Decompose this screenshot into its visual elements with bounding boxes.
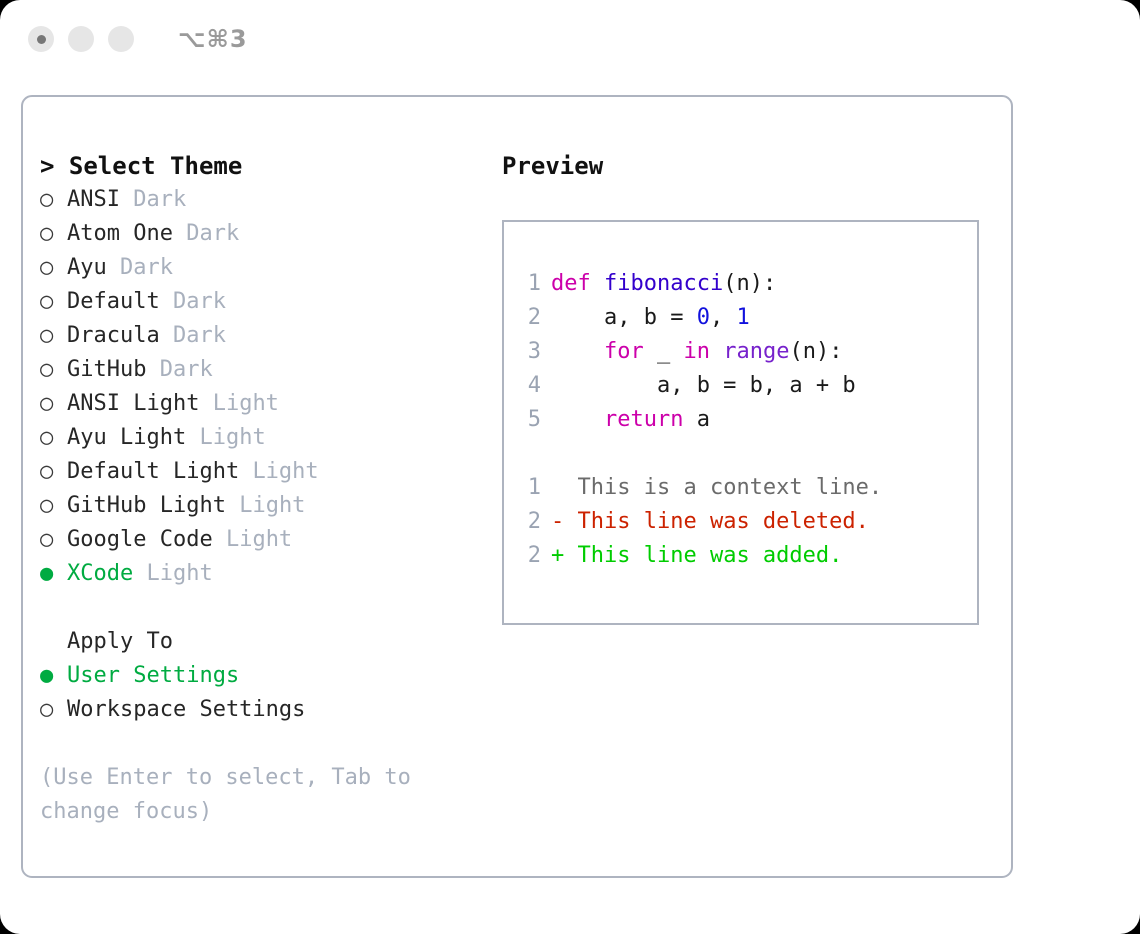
theme-option-list: ○ANSI Dark○Atom One Dark○Ayu Dark○Defaul… (40, 183, 480, 591)
theme-option-dracula[interactable]: ○Dracula Dark (40, 319, 480, 353)
theme-option-variant: Light (252, 459, 318, 484)
diff-text: This line was deleted. (578, 509, 869, 534)
theme-option-ayu-light[interactable]: ○Ayu Light Light (40, 421, 480, 455)
traffic-light-active[interactable] (28, 26, 54, 52)
theme-option-variant: Dark (120, 255, 173, 280)
diff-text: This line was added. (578, 543, 843, 568)
title-bar: ⌥⌘3 (0, 0, 1140, 78)
diff-sign (551, 475, 578, 500)
theme-option-ayu[interactable]: ○Ayu Dark (40, 251, 480, 285)
radio-unselected-icon: ○ (40, 421, 67, 455)
code-line: 3 for _ in range(n): (504, 335, 977, 369)
theme-option-variant: Dark (133, 187, 186, 212)
theme-option-variant: Light (146, 561, 212, 586)
theme-option-label: Default (67, 289, 160, 314)
code-token-num: 0 (697, 305, 710, 330)
theme-option-ansi[interactable]: ○ANSI Dark (40, 183, 480, 217)
theme-option-github-light[interactable]: ○GitHub Light Light (40, 489, 480, 523)
diff-line: 2- This line was deleted. (504, 505, 977, 539)
theme-option-variant: Dark (173, 289, 226, 314)
apply-to-option-label: User Settings (67, 663, 239, 688)
diff-line-number: 1 (515, 471, 541, 505)
keyboard-shortcut-label: ⌥⌘3 (178, 25, 248, 53)
theme-selector-panel: > Select Theme ○ANSI Dark○Atom One Dark○… (21, 95, 1013, 878)
apply-to-option-label: Workspace Settings (67, 697, 305, 722)
traffic-light-third[interactable] (108, 26, 134, 52)
apply-to-heading-label: Apply To (67, 629, 173, 654)
radio-unselected-icon: ○ (40, 251, 67, 285)
theme-option-default-light[interactable]: ○Default Light Light (40, 455, 480, 489)
preview-heading: Preview (502, 149, 992, 183)
diff-line-number: 2 (515, 539, 541, 573)
code-diff-gap (504, 437, 977, 471)
code-token-plain: a (697, 407, 710, 432)
radio-unselected-icon: ○ (40, 693, 67, 727)
code-token-fn: fibonacci (604, 271, 723, 296)
code-sample: 1def fibonacci(n):2 a, b = 0, 13 for _ i… (504, 267, 977, 437)
apply-to-option-workspace-settings[interactable]: ○Workspace Settings (40, 693, 480, 727)
list-spacer (40, 591, 480, 625)
theme-option-github[interactable]: ○GitHub Dark (40, 353, 480, 387)
theme-option-variant: Light (239, 493, 305, 518)
theme-option-label: GitHub (67, 357, 146, 382)
code-token-num: 1 (736, 305, 749, 330)
code-line: 4 a, b = b, a + b (504, 369, 977, 403)
preview-column: Preview 1def fibonacci(n):2 a, b = 0, 13… (502, 149, 992, 625)
code-line: 2 a, b = 0, 1 (504, 301, 977, 335)
diff-line: 1 This is a context line. (504, 471, 977, 505)
code-token-kw: return (604, 407, 697, 432)
theme-option-label: XCode (67, 561, 133, 586)
theme-option-variant: Dark (186, 221, 239, 246)
code-token-plain: a, b = b, a + b (551, 373, 856, 398)
theme-option-label: Atom One (67, 221, 173, 246)
theme-option-label: Ayu Light (67, 425, 186, 450)
theme-option-ansi-light[interactable]: ○ANSI Light Light (40, 387, 480, 421)
keyboard-hint-text: (Use Enter to select, Tab to change focu… (40, 761, 440, 829)
radio-unselected-icon: ○ (40, 455, 67, 489)
radio-unselected-icon: ○ (40, 217, 67, 251)
theme-option-variant: Dark (173, 323, 226, 348)
apply-to-heading-indent (40, 625, 67, 659)
theme-list-heading: > Select Theme (40, 149, 480, 183)
theme-option-google-code[interactable]: ○Google Code Light (40, 523, 480, 557)
theme-option-atom-one[interactable]: ○Atom One Dark (40, 217, 480, 251)
apply-to-option-user-settings[interactable]: ●User Settings (40, 659, 480, 693)
code-token-plain: (n): (789, 339, 842, 364)
code-token-kw: in (683, 339, 723, 364)
apply-to-heading: Apply To (40, 625, 480, 659)
diff-sign: + (551, 543, 578, 568)
theme-option-label: Dracula (67, 323, 160, 348)
code-token-plain: , (710, 305, 737, 330)
code-line: 1def fibonacci(n): (504, 267, 977, 301)
radio-unselected-icon: ○ (40, 319, 67, 353)
diff-line-number: 2 (515, 505, 541, 539)
code-token-plain (551, 339, 604, 364)
code-line-number: 2 (515, 301, 541, 335)
code-token-kw: def (551, 271, 604, 296)
app-window: ⌥⌘3 > Select Theme ○ANSI Dark○Atom One D… (0, 0, 1140, 934)
radio-selected-icon: ● (40, 659, 67, 693)
code-line-number: 4 (515, 369, 541, 403)
code-token-kw: for (604, 339, 657, 364)
traffic-light-active-dot (37, 35, 46, 44)
code-line-number: 3 (515, 335, 541, 369)
theme-list-column: > Select Theme ○ANSI Dark○Atom One Dark○… (40, 149, 480, 829)
theme-option-label: ANSI Light (67, 391, 199, 416)
radio-unselected-icon: ○ (40, 353, 67, 387)
theme-option-variant: Dark (160, 357, 213, 382)
radio-unselected-icon: ○ (40, 523, 67, 557)
code-line-number: 5 (515, 403, 541, 437)
theme-option-label: GitHub Light (67, 493, 226, 518)
diff-line: 2+ This line was added. (504, 539, 977, 573)
code-preview-box: 1def fibonacci(n):2 a, b = 0, 13 for _ i… (502, 220, 979, 625)
diff-text: This is a context line. (578, 475, 883, 500)
code-line-number: 1 (515, 267, 541, 301)
theme-option-xcode[interactable]: ●XCode Light (40, 557, 480, 591)
radio-unselected-icon: ○ (40, 285, 67, 319)
theme-option-label: Default Light (67, 459, 239, 484)
radio-unselected-icon: ○ (40, 489, 67, 523)
theme-option-label: ANSI (67, 187, 120, 212)
diff-sign: - (551, 509, 578, 534)
code-token-bi: range (723, 339, 789, 364)
radio-unselected-icon: ○ (40, 183, 67, 217)
code-line: 5 return a (504, 403, 977, 437)
diff-sample: 1 This is a context line.2- This line wa… (504, 471, 977, 573)
apply-to-option-list: ●User Settings○Workspace Settings (40, 659, 480, 727)
code-token-plain (551, 407, 604, 432)
theme-option-variant: Light (213, 391, 279, 416)
traffic-light-second[interactable] (68, 26, 94, 52)
theme-option-variant: Light (226, 527, 292, 552)
theme-option-variant: Light (199, 425, 265, 450)
radio-unselected-icon: ○ (40, 387, 67, 421)
code-token-plain: (n): (723, 271, 776, 296)
code-token-plain: _ (657, 339, 684, 364)
theme-option-label: Google Code (67, 527, 213, 552)
theme-option-default[interactable]: ○Default Dark (40, 285, 480, 319)
code-token-plain: a, b = (551, 305, 697, 330)
radio-selected-icon: ● (40, 557, 67, 591)
theme-option-label: Ayu (67, 255, 107, 280)
